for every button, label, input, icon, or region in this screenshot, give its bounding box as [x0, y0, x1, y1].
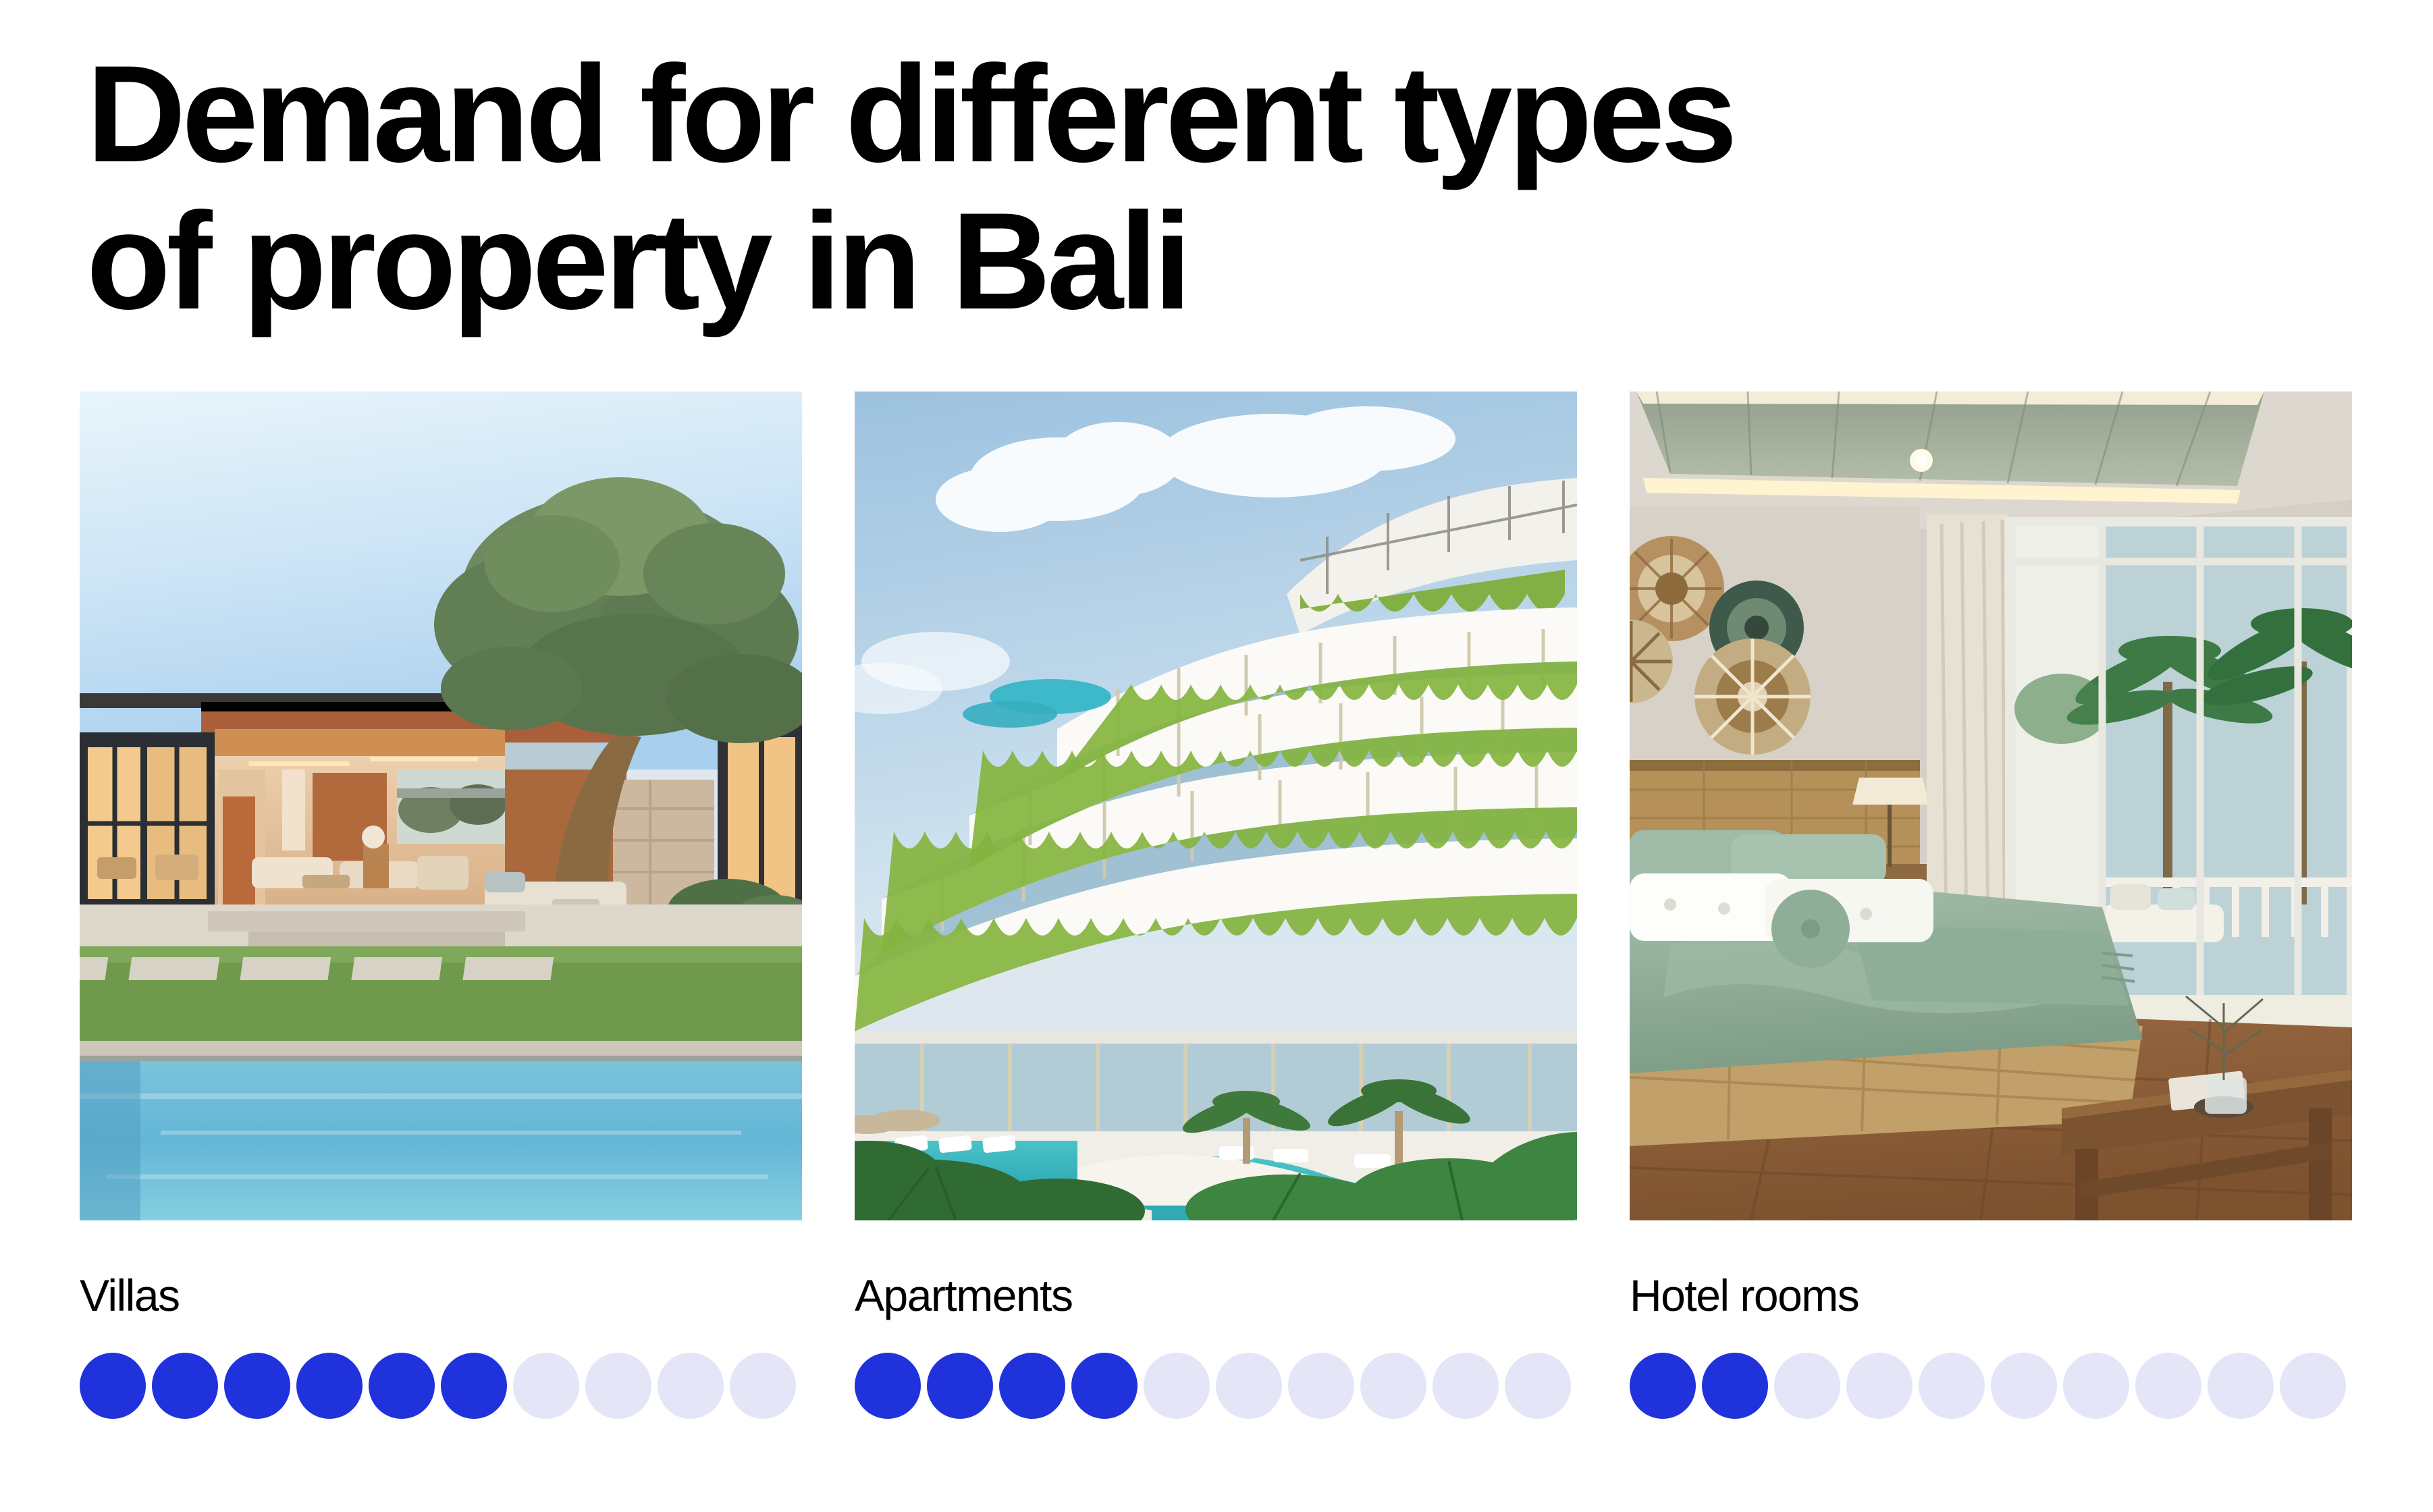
property-card-apartments: Apartments	[855, 391, 1577, 1419]
infographic-page: Demand for different types of property i…	[0, 0, 2433, 1512]
hotel-room-photo	[1630, 391, 2352, 1220]
property-type-columns: Villas	[80, 391, 2353, 1419]
dot-empty	[2208, 1353, 2274, 1419]
dot-filled	[152, 1353, 218, 1419]
dot-filled	[1071, 1353, 1138, 1419]
category-label-hotel-rooms: Hotel rooms	[1630, 1272, 2352, 1319]
dot-filled	[1630, 1353, 1696, 1419]
apartment-photo	[855, 391, 1577, 1220]
dot-empty	[1919, 1353, 1985, 1419]
dot-empty	[1144, 1353, 1210, 1419]
dot-empty	[2063, 1353, 2129, 1419]
dot-empty	[2135, 1353, 2201, 1419]
dot-empty	[2280, 1353, 2346, 1419]
dot-filled	[224, 1353, 290, 1419]
dot-empty	[730, 1353, 796, 1419]
dot-empty	[1774, 1353, 1840, 1419]
dot-empty	[1216, 1353, 1282, 1419]
dot-empty	[658, 1353, 724, 1419]
demand-dots-villas	[80, 1353, 802, 1419]
dot-filled	[80, 1353, 146, 1419]
dot-filled	[855, 1353, 921, 1419]
dot-empty	[1360, 1353, 1426, 1419]
dot-filled	[927, 1353, 993, 1419]
dot-filled	[1702, 1353, 1768, 1419]
dot-filled	[441, 1353, 507, 1419]
property-card-hotel-rooms: Hotel rooms	[1630, 391, 2352, 1419]
demand-dots-hotel-rooms	[1630, 1353, 2352, 1419]
dot-empty	[585, 1353, 651, 1419]
category-label-villas: Villas	[80, 1272, 802, 1319]
dot-empty	[513, 1353, 579, 1419]
dot-empty	[1288, 1353, 1354, 1419]
demand-dots-apartments	[855, 1353, 1577, 1419]
villa-photo	[80, 391, 802, 1220]
property-card-villas: Villas	[80, 391, 802, 1419]
category-label-apartments: Apartments	[855, 1272, 1577, 1319]
dot-filled	[369, 1353, 435, 1419]
dot-filled	[296, 1353, 363, 1419]
page-title: Demand for different types of property i…	[86, 40, 1842, 335]
dot-empty	[1505, 1353, 1571, 1419]
dot-empty	[1991, 1353, 2057, 1419]
dot-empty	[1433, 1353, 1499, 1419]
dot-filled	[999, 1353, 1065, 1419]
dot-empty	[1846, 1353, 1913, 1419]
